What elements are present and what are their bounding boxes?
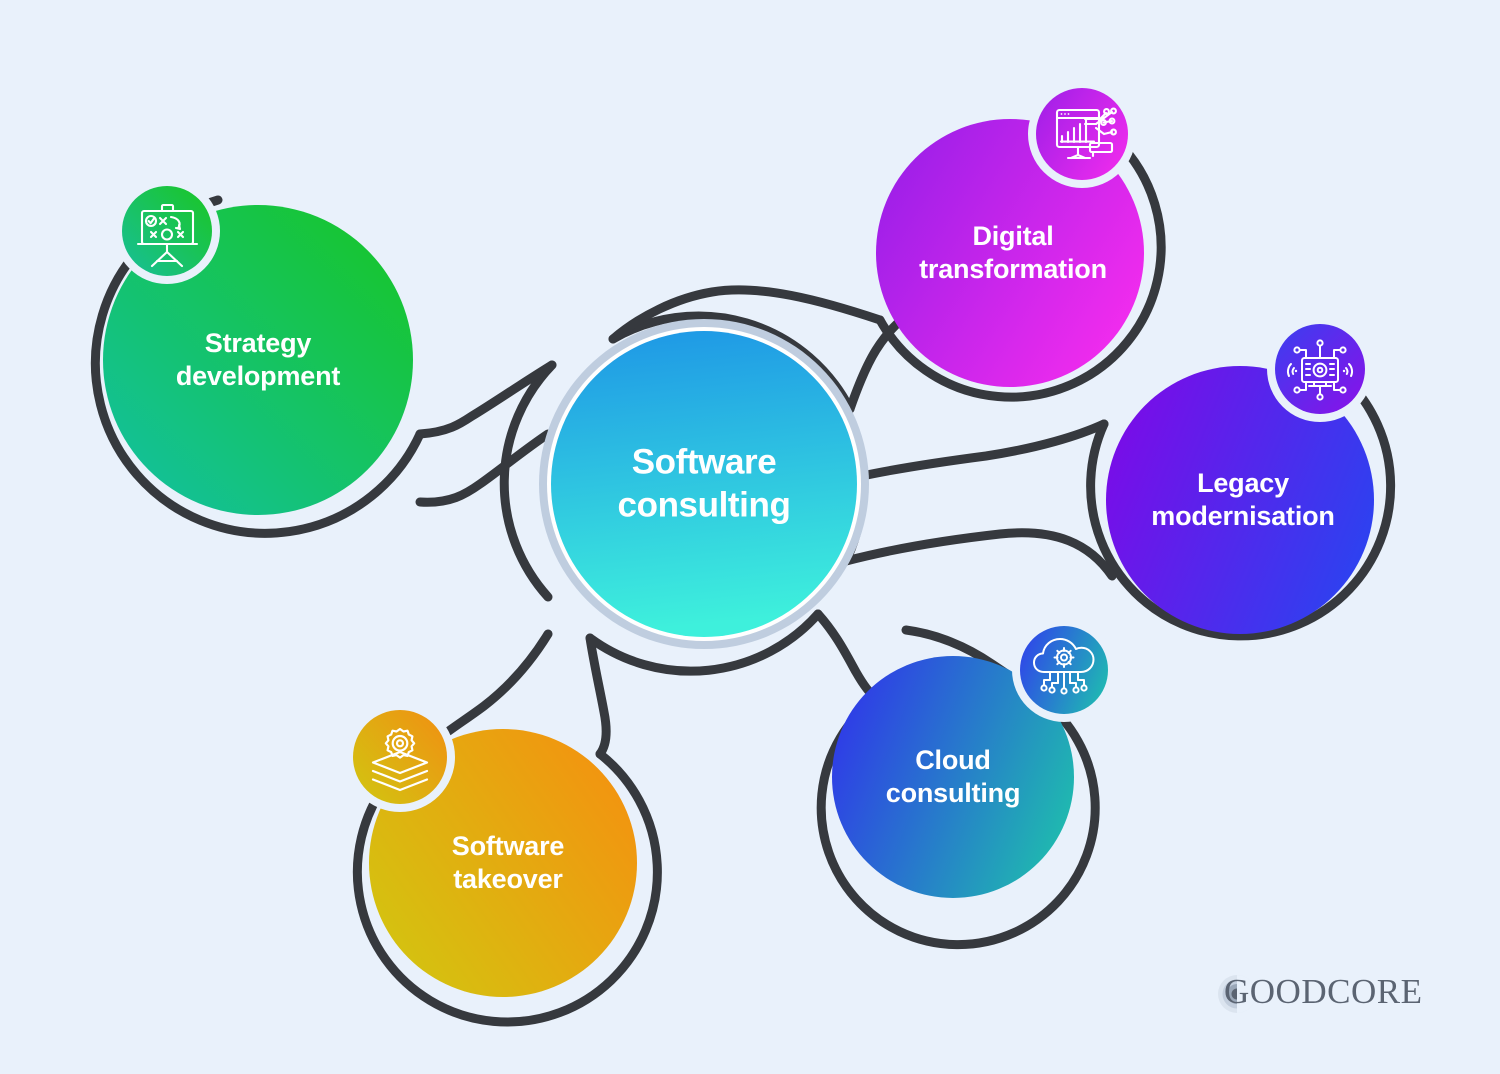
connector-center-takeover-left: [590, 638, 606, 754]
node-software-takeover[interactable]: [345, 702, 637, 997]
brand-logo: GOODCORE: [1224, 974, 1422, 1009]
connector-center-strategy-top: [420, 365, 552, 434]
mindmap-svg: [0, 0, 1500, 1074]
strategy-icon-badge: [122, 186, 212, 276]
center-circle-fill: [551, 331, 857, 637]
node-cloud-consulting[interactable]: [832, 618, 1116, 898]
node-software-consulting[interactable]: [539, 319, 869, 649]
connector-center-strategy-bottom: [420, 434, 548, 502]
connector-center-takeover-right: [438, 634, 548, 739]
connector-center-cloud-left: [818, 614, 876, 698]
connector-center-legacy-bottom: [846, 533, 1112, 576]
connector-center-legacy-top: [862, 424, 1104, 476]
brand-name: GOODCORE: [1224, 974, 1422, 1009]
node-strategy-development[interactable]: [103, 178, 413, 515]
node-legacy-modernisation[interactable]: [1106, 316, 1374, 634]
diagram-canvas: Software consulting Strategy development…: [0, 0, 1500, 1074]
node-digital-transformation[interactable]: [876, 80, 1144, 387]
